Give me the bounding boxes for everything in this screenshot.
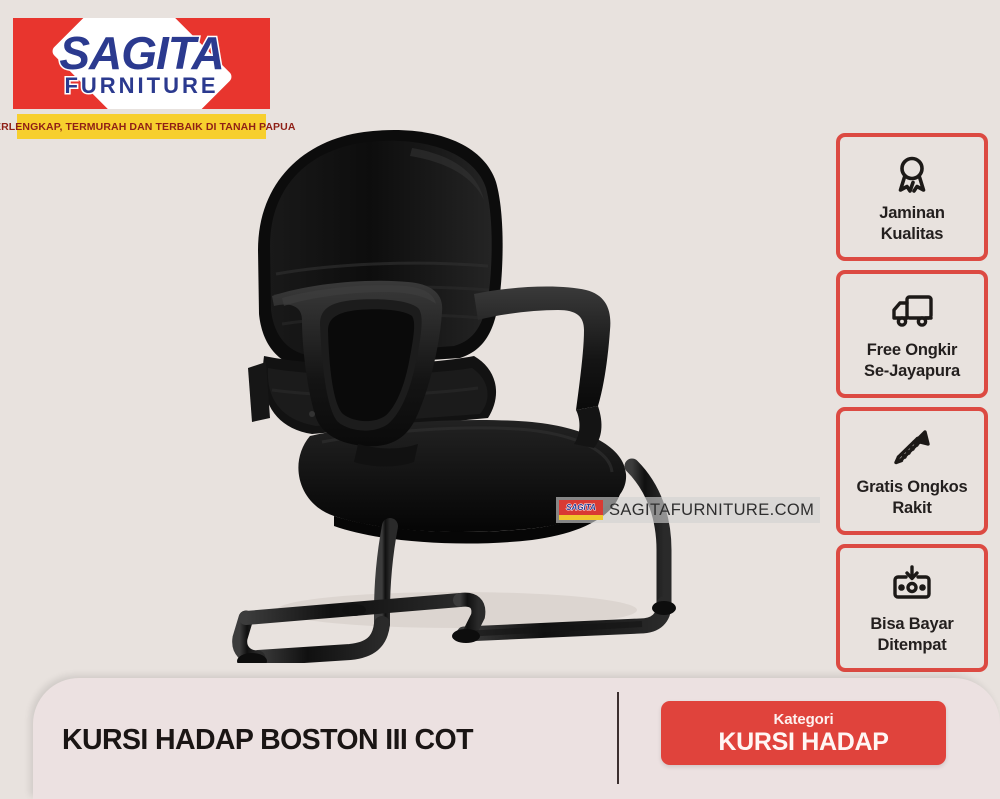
logo-wordmark: SAGITA xyxy=(13,30,270,76)
feature-label-free-assembly: Gratis Ongkos Rakit xyxy=(856,477,967,519)
bar-divider xyxy=(617,692,619,784)
feature-label-quality: Jaminan Kualitas xyxy=(879,203,945,245)
feature-card-quality: Jaminan Kualitas xyxy=(836,133,988,261)
category-badge: Kategori KURSI HADAP xyxy=(661,701,946,765)
watermark-logo: SAGITA xyxy=(559,500,603,520)
feature-card-free-assembly: Gratis Ongkos Rakit xyxy=(836,407,988,535)
category-value: KURSI HADAP xyxy=(718,728,888,756)
feature-card-cod: Bisa Bayar Ditempat xyxy=(836,544,988,672)
category-kicker: Kategori xyxy=(773,711,833,728)
product-poster: SAGITA FURNITURE TERLENGKAP, TERMURAH DA… xyxy=(0,0,1000,799)
delivery-truck-icon xyxy=(889,288,935,334)
award-medal-icon xyxy=(890,151,934,197)
screw-icon xyxy=(890,425,934,471)
cash-on-delivery-icon xyxy=(889,562,935,608)
product-title: KURSI HADAP BOSTON III COT xyxy=(62,724,473,757)
logo-red-plate: SAGITA FURNITURE xyxy=(13,18,270,109)
logo-subtitle: FURNITURE xyxy=(13,75,270,97)
image-watermark: SAGITA SAGITAFURNITURE.COM xyxy=(556,497,820,523)
feature-card-free-shipping: Free Ongkir Se-Jayapura xyxy=(836,270,988,398)
watermark-text: SAGITAFURNITURE.COM xyxy=(609,501,814,520)
product-photo: SAGITA SAGITAFURNITURE.COM xyxy=(212,118,682,663)
feature-label-cod: Bisa Bayar Ditempat xyxy=(870,614,953,656)
bottom-bar: KURSI HADAP BOSTON III COT Kategori KURS… xyxy=(33,678,1000,799)
feature-list: Jaminan Kualitas Free Ongkir Se-Jayapura xyxy=(836,133,988,681)
feature-label-free-shipping: Free Ongkir Se-Jayapura xyxy=(864,340,960,382)
